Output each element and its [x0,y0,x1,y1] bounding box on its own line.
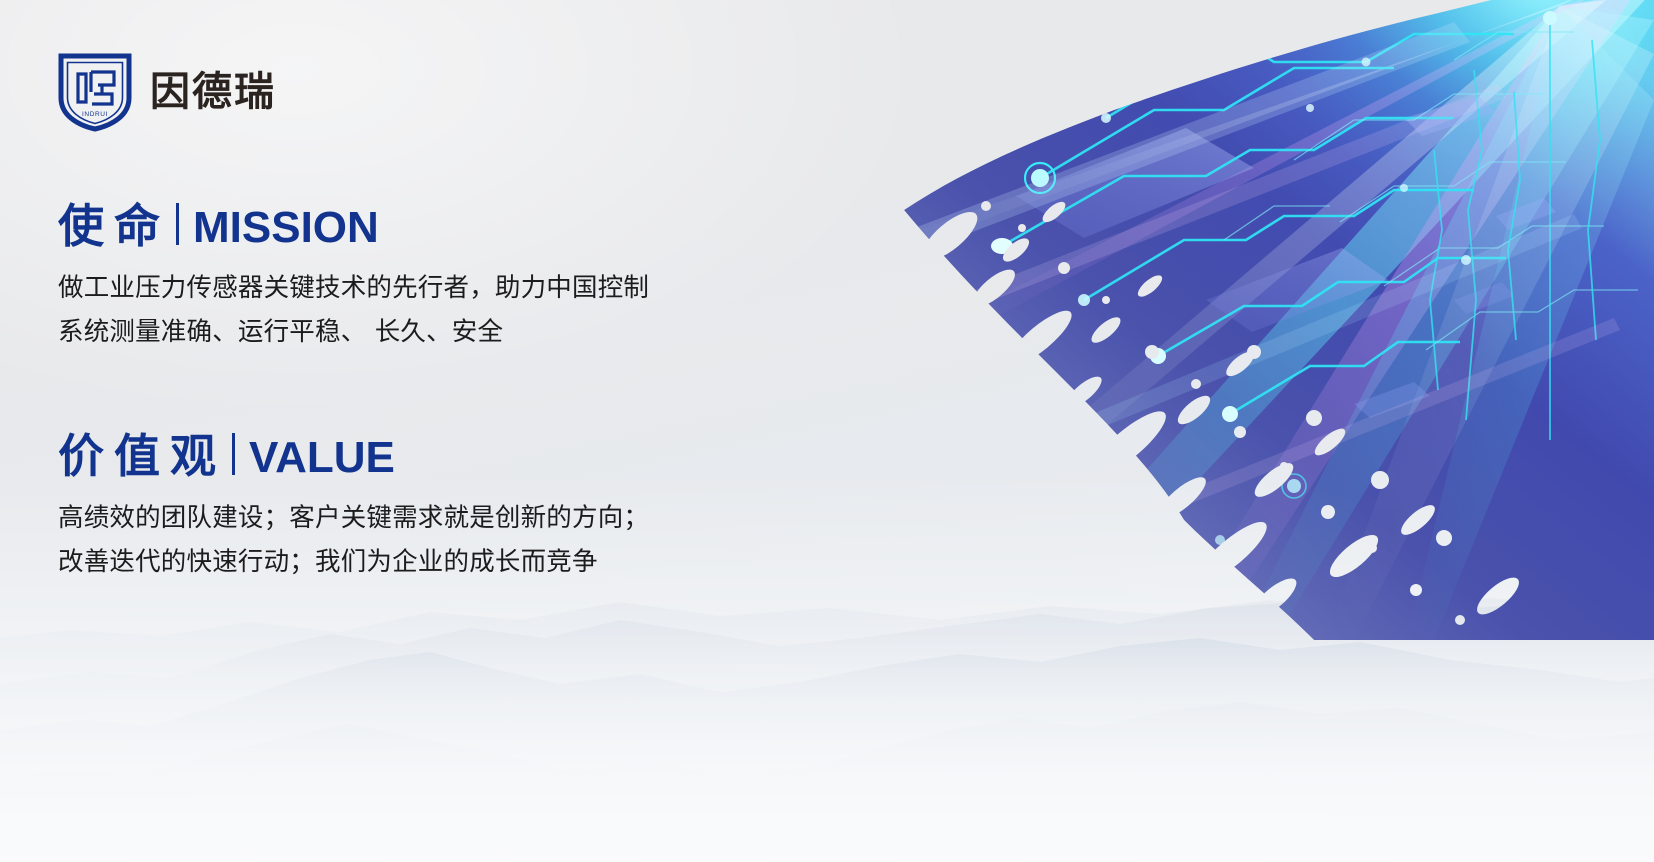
value-section: 价值观 VALUE 高绩效的团队建设；客户关键需求就是创新的方向； 改善迭代的快… [58,430,649,585]
heading-separator-bar [232,433,235,475]
mission-body-line-1: 做工业压力传感器关键技术的先行者，助力中国控制 [58,267,649,311]
value-heading: 价值观 VALUE [58,430,649,483]
shield-logo-icon: INDRUI [58,52,132,132]
value-body-line-2: 改善迭代的快速行动；我们为企业的成长而竞争 [58,541,649,585]
brand-wordmark: 因德瑞 [150,72,276,112]
value-heading-en: VALUE [249,433,395,483]
brand-logo[interactable]: INDRUI 因德瑞 [58,52,276,132]
value-body-line-1: 高绩效的团队建设；客户关键需求就是创新的方向； [58,497,649,541]
value-heading-cn: 价值观 [58,432,226,480]
mission-heading: 使命 MISSION [58,200,649,253]
mission-heading-cn: 使命 [58,202,170,250]
svg-text:INDRUI: INDRUI [82,111,108,118]
slide-canvas: INDRUI 因德瑞 使命 MISSION 做工业压力传感器关键技术的先行者，助… [0,0,1654,862]
value-body: 高绩效的团队建设；客户关键需求就是创新的方向； 改善迭代的快速行动；我们为企业的… [58,497,649,585]
mission-body: 做工业压力传感器关键技术的先行者，助力中国控制 系统测量准确、运行平稳、 长久、… [58,267,649,355]
heading-separator-bar [176,203,179,245]
mountain-range-illustration [0,542,1654,862]
mission-section: 使命 MISSION 做工业压力传感器关键技术的先行者，助力中国控制 系统测量准… [58,200,649,355]
mission-heading-en: MISSION [193,203,379,253]
mission-body-line-2: 系统测量准确、运行平稳、 长久、安全 [58,311,649,355]
